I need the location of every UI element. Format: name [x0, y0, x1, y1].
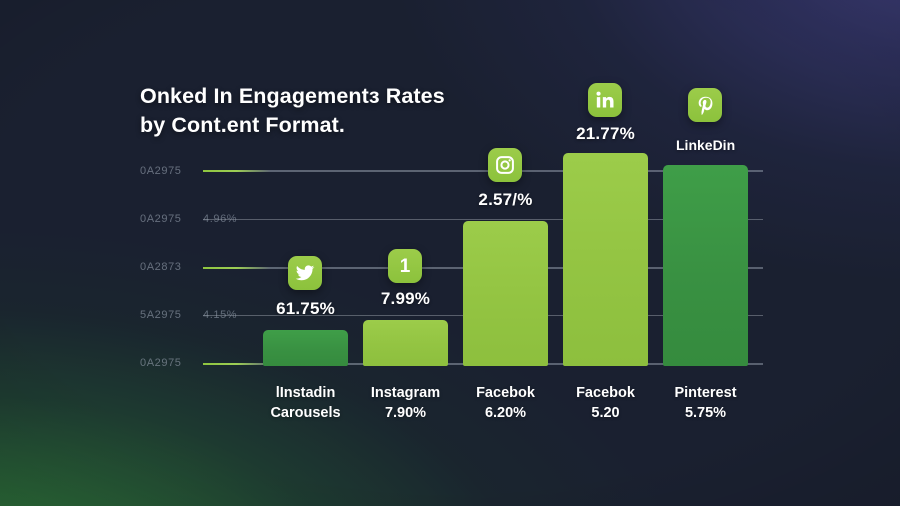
bar-1[interactable] — [263, 330, 348, 366]
page-title: Onked In Engagementɜ Rates by Cont.ent F… — [140, 82, 445, 140]
category-label-3-line-1: Facebok — [476, 385, 535, 401]
instagram-icon — [495, 155, 515, 175]
pinterest-icon-badge[interactable] — [688, 88, 722, 122]
y-axis-label-1: 0A2975 — [140, 165, 182, 177]
bar-3[interactable] — [463, 221, 548, 366]
linkedin-icon-badge[interactable] — [588, 83, 622, 117]
category-label-1: lInstadin Carousels — [248, 383, 363, 423]
y-axis-label-2: 0A2975 — [140, 213, 182, 225]
bar-value-2: 7.99% — [363, 289, 448, 309]
category-label-5: Pinterest 5.75% — [648, 383, 763, 423]
category-label-2-line-2: 7.90% — [348, 403, 463, 423]
category-label-4-line-2: 5.20 — [548, 403, 663, 423]
bar-value-1: 61.75% — [263, 299, 348, 319]
pinterest-icon — [695, 95, 716, 116]
linkedin-icon — [595, 90, 615, 110]
bar-2[interactable] — [363, 320, 448, 366]
category-label-5-line-1: Pinterest — [674, 385, 736, 401]
category-label-1-line-2: Carousels — [248, 403, 363, 423]
bar-4[interactable] — [563, 153, 648, 366]
category-label-4-line-1: Facebok — [576, 385, 635, 401]
legend-linkedin-label: LinkeDin — [676, 137, 735, 153]
bar-value-3: 2.57/% — [463, 190, 548, 210]
y-axis-sublabel-1: 4.96% — [203, 213, 237, 225]
y-axis-label-5: 0A2975 — [140, 357, 182, 369]
category-label-2-line-1: Instagram — [371, 385, 440, 401]
category-label-3: Facebok 6.20% — [448, 383, 563, 423]
page-title-line-1: Onked In Engagementɜ Rates — [140, 84, 445, 108]
twitter-icon — [295, 263, 315, 283]
category-label-5-line-2: 5.75% — [648, 403, 763, 423]
glyph-one-icon-badge[interactable]: 1 — [388, 249, 422, 283]
twitter-icon-badge[interactable] — [288, 256, 322, 290]
category-label-2: Instagram 7.90% — [348, 383, 463, 423]
instagram-icon-badge[interactable] — [488, 148, 522, 182]
category-label-4: Facebok 5.20 — [548, 383, 663, 423]
bar-5[interactable] — [663, 165, 748, 366]
bar-value-4: 21.77% — [563, 124, 648, 144]
y-axis-label-4: 5A2975 — [140, 309, 182, 321]
category-label-3-line-2: 6.20% — [448, 403, 563, 423]
y-axis-label-3: 0A2873 — [140, 261, 182, 273]
y-axis-sublabel-2: 4.15% — [203, 309, 237, 321]
page-title-line-2: by Cont.ent Format. — [140, 111, 445, 140]
category-label-1-line-1: lInstadin — [276, 385, 336, 401]
bar-chart: Onked In Engagementɜ Rates by Cont.ent F… — [0, 0, 900, 506]
glyph-one-icon: 1 — [400, 257, 411, 276]
